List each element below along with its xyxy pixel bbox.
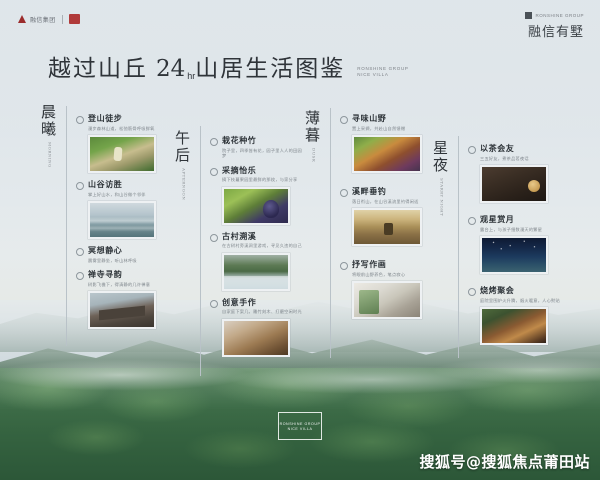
item-subtitle: 将眼前山野养色，笔点寂心	[352, 272, 405, 277]
brand-divider	[62, 15, 63, 24]
grape-harvest-photo[interactable]	[222, 187, 290, 225]
farm-vegetables-photo[interactable]	[352, 135, 422, 173]
item-subtitle: 掌上好山水，和山谷做个邻伴	[88, 192, 146, 197]
column-divider-night	[458, 136, 459, 358]
item-subtitle: 置上采撷，共赴山自然馈赠	[352, 126, 405, 131]
title-number: 24	[156, 58, 185, 81]
item-subtitle: 三五好友，煮茶品茗夜话	[480, 156, 529, 161]
brand-logo-left[interactable]: 融信集团	[18, 14, 80, 24]
item-marker-icon	[76, 248, 84, 256]
bottom-logo-line1: RONSHINE GROUP	[280, 422, 321, 426]
item-marker-icon	[76, 272, 84, 280]
item-marker-icon	[340, 262, 348, 270]
item-marker-icon	[76, 116, 84, 124]
forest-trail-photo[interactable]	[88, 135, 156, 173]
item-marker-icon	[210, 168, 218, 176]
column-label-afternoon: 午后 AFTERNOON	[170, 130, 196, 204]
column-label-dusk-text: 薄暮	[305, 109, 321, 144]
item-marker-icon	[76, 182, 84, 190]
item-subtitle: 摘下枝蔓果园里最鲜的那枚，与家分享	[222, 177, 297, 182]
item-subtitle: 院子里，四季皆有花，园子里人人的田园梦	[222, 148, 306, 159]
top-bar: 融信集团 RONSHINE GROUP 融信有墅	[0, 0, 600, 42]
item-marker-icon	[340, 116, 348, 124]
brand-logo-right[interactable]: RONSHINE GROUP 融信有墅	[525, 12, 584, 40]
column-label-night-en: STARRY NIGHT	[439, 178, 444, 216]
temple-eave-photo[interactable]	[88, 291, 156, 329]
item-title: 抒写作画	[352, 260, 405, 270]
starry-sky-photo[interactable]	[480, 236, 548, 274]
list-item[interactable]: 烧烤聚会 庭院里围炉火升腾，烟火暖意，人心熨贴	[468, 286, 564, 345]
item-marker-icon	[210, 138, 218, 146]
item-title: 登山徒步	[88, 114, 155, 124]
column-label-morning: 晨曦 MORNING	[36, 104, 62, 171]
brand-left-label: 融信集团	[30, 15, 56, 24]
item-subtitle: 晨雾里静坐，听山林呼吸	[88, 258, 137, 263]
list-item[interactable]: 禅寺寻韵 树影飞檐下，得清静的几许禅意	[76, 270, 172, 329]
column-divider-morning	[66, 106, 67, 346]
column-divider-afternoon	[200, 126, 201, 376]
title-main-part1: 越过山丘	[48, 58, 148, 81]
river-stream-photo[interactable]	[222, 253, 290, 291]
item-title: 采摘怡乐	[222, 166, 297, 176]
title-main-part2: 山居生活图鉴	[195, 58, 345, 81]
item-subtitle: 自家庭下案几，雕竹刻木、打磨空闲时光	[222, 309, 302, 314]
painting-desk-photo[interactable]	[352, 281, 422, 319]
item-marker-icon	[468, 146, 476, 154]
brand-right-cn: 融信有墅	[525, 21, 584, 40]
bottom-logo-line2: NICE VILLA	[288, 427, 313, 431]
item-title: 冥想静心	[88, 246, 137, 256]
item-title: 栽花种竹	[222, 136, 306, 146]
brand-right-en: RONSHINE GROUP	[535, 13, 584, 18]
timeline-columns: 晨曦 MORNING 登山徒步 漫步森林山道，松弛筋骨呼吸鲜氧	[0, 100, 600, 390]
item-title: 观星赏月	[480, 215, 542, 225]
brand-square-icon	[525, 12, 532, 19]
item-title: 创意手作	[222, 298, 302, 308]
list-item[interactable]: 山谷访胜 掌上好山水，和山谷做个邻伴	[76, 180, 172, 239]
column-items-afternoon: 栽花种竹 院子里，四季皆有花，园子里人人的田园梦 采摘怡乐 摘下枝蔓果园里最鲜的…	[210, 136, 306, 364]
handcraft-photo[interactable]	[222, 319, 290, 357]
list-item[interactable]: 采摘怡乐 摘下枝蔓果园里最鲜的那枚，与家分享	[210, 166, 306, 225]
list-item[interactable]: 观星赏月 露台上，与孩子细数漫天的繁星	[468, 215, 564, 274]
list-item[interactable]: 古村溯溪 在古树村旁溪涧里游戏，寻见久违的自己	[210, 232, 306, 291]
bottom-brand-logo[interactable]: RONSHINE GROUP NICE VILLA	[278, 412, 322, 440]
column-label-morning-text: 晨曦	[41, 103, 57, 138]
item-title: 禅寺寻韵	[88, 270, 150, 280]
list-item[interactable]: 抒写作画 将眼前山野养色，笔点寂心	[340, 260, 436, 319]
column-divider-dusk	[330, 108, 331, 358]
item-title: 寻味山野	[352, 114, 405, 124]
column-label-dusk: 薄暮 DUSK	[300, 110, 326, 166]
list-item[interactable]: 溪畔垂钓 落日衔山，在山谷溪流里钓得闲适	[340, 187, 436, 246]
title-english-caption: RONSHINE GROUP NICE VILLA	[357, 66, 408, 81]
mountain-valley-photo[interactable]	[88, 201, 156, 239]
column-label-night: 星夜 STARRY NIGHT	[428, 140, 454, 220]
list-item[interactable]: 栽花种竹 院子里，四季皆有花，园子里人人的田园梦	[210, 136, 306, 159]
item-subtitle: 在古树村旁溪涧里游戏，寻见久违的自己	[222, 243, 302, 248]
column-label-morning-en: MORNING	[47, 142, 52, 168]
list-item[interactable]: 以茶会友 三五好友，煮茶品茗夜话	[468, 144, 564, 203]
title-en-line2: NICE VILLA	[357, 72, 408, 78]
item-subtitle: 露台上，与孩子细数漫天的繁星	[480, 227, 542, 232]
item-title: 山谷访胜	[88, 180, 146, 190]
column-label-night-text: 星夜	[433, 139, 449, 174]
sohu-watermark: 搜狐号@搜狐焦点莆田站	[419, 451, 590, 472]
item-marker-icon	[340, 189, 348, 197]
item-title: 溪畔垂钓	[352, 187, 419, 197]
list-item[interactable]: 寻味山野 置上采撷，共赴山自然馈赠	[340, 114, 436, 173]
brand-badge-icon	[69, 14, 80, 24]
list-item[interactable]: 登山徒步 漫步森林山道，松弛筋骨呼吸鲜氧	[76, 114, 172, 173]
item-subtitle: 漫步森林山道，松弛筋骨呼吸鲜氧	[88, 126, 155, 131]
item-title: 古村溯溪	[222, 232, 302, 242]
item-subtitle: 树影飞檐下，得清静的几许禅意	[88, 282, 150, 287]
column-items-morning: 登山徒步 漫步森林山道，松弛筋骨呼吸鲜氧 山谷访胜 掌上好山水，和山谷做个邻伴	[76, 114, 172, 336]
title-superscript: hr	[187, 71, 195, 81]
item-subtitle: 落日衔山，在山谷溪流里钓得闲适	[352, 199, 419, 204]
item-marker-icon	[210, 300, 218, 308]
triangle-mark-icon	[18, 15, 26, 23]
item-title: 以茶会友	[480, 144, 529, 154]
column-items-dusk: 寻味山野 置上采撷，共赴山自然馈赠 溪畔垂钓 落日衔山，在山谷溪流里钓得闲适	[340, 114, 436, 326]
column-label-afternoon-text: 午后	[175, 129, 191, 164]
column-items-night: 以茶会友 三五好友，煮茶品茗夜话 观星赏月 露台上，与孩子细数漫天的繁星	[468, 144, 564, 352]
page-title: 越过山丘 24hr 山居生活图鉴 RONSHINE GROUP NICE VIL…	[48, 58, 409, 81]
column-label-dusk-en: DUSK	[311, 148, 316, 162]
fishing-riverbank-photo[interactable]	[352, 208, 422, 246]
item-marker-icon	[468, 288, 476, 296]
list-item[interactable]: 冥想静心 晨雾里静坐，听山林呼吸	[76, 246, 172, 263]
item-title: 烧烤聚会	[480, 286, 560, 296]
item-marker-icon	[468, 217, 476, 225]
bbq-grill-photo[interactable]	[480, 307, 548, 345]
item-subtitle: 庭院里围炉火升腾，烟火暖意，人心熨贴	[480, 298, 560, 303]
tea-ceremony-photo[interactable]	[480, 165, 548, 203]
column-label-afternoon-en: AFTERNOON	[181, 168, 186, 200]
list-item[interactable]: 创意手作 自家庭下案几，雕竹刻木、打磨空闲时光	[210, 298, 306, 357]
item-marker-icon	[210, 234, 218, 242]
